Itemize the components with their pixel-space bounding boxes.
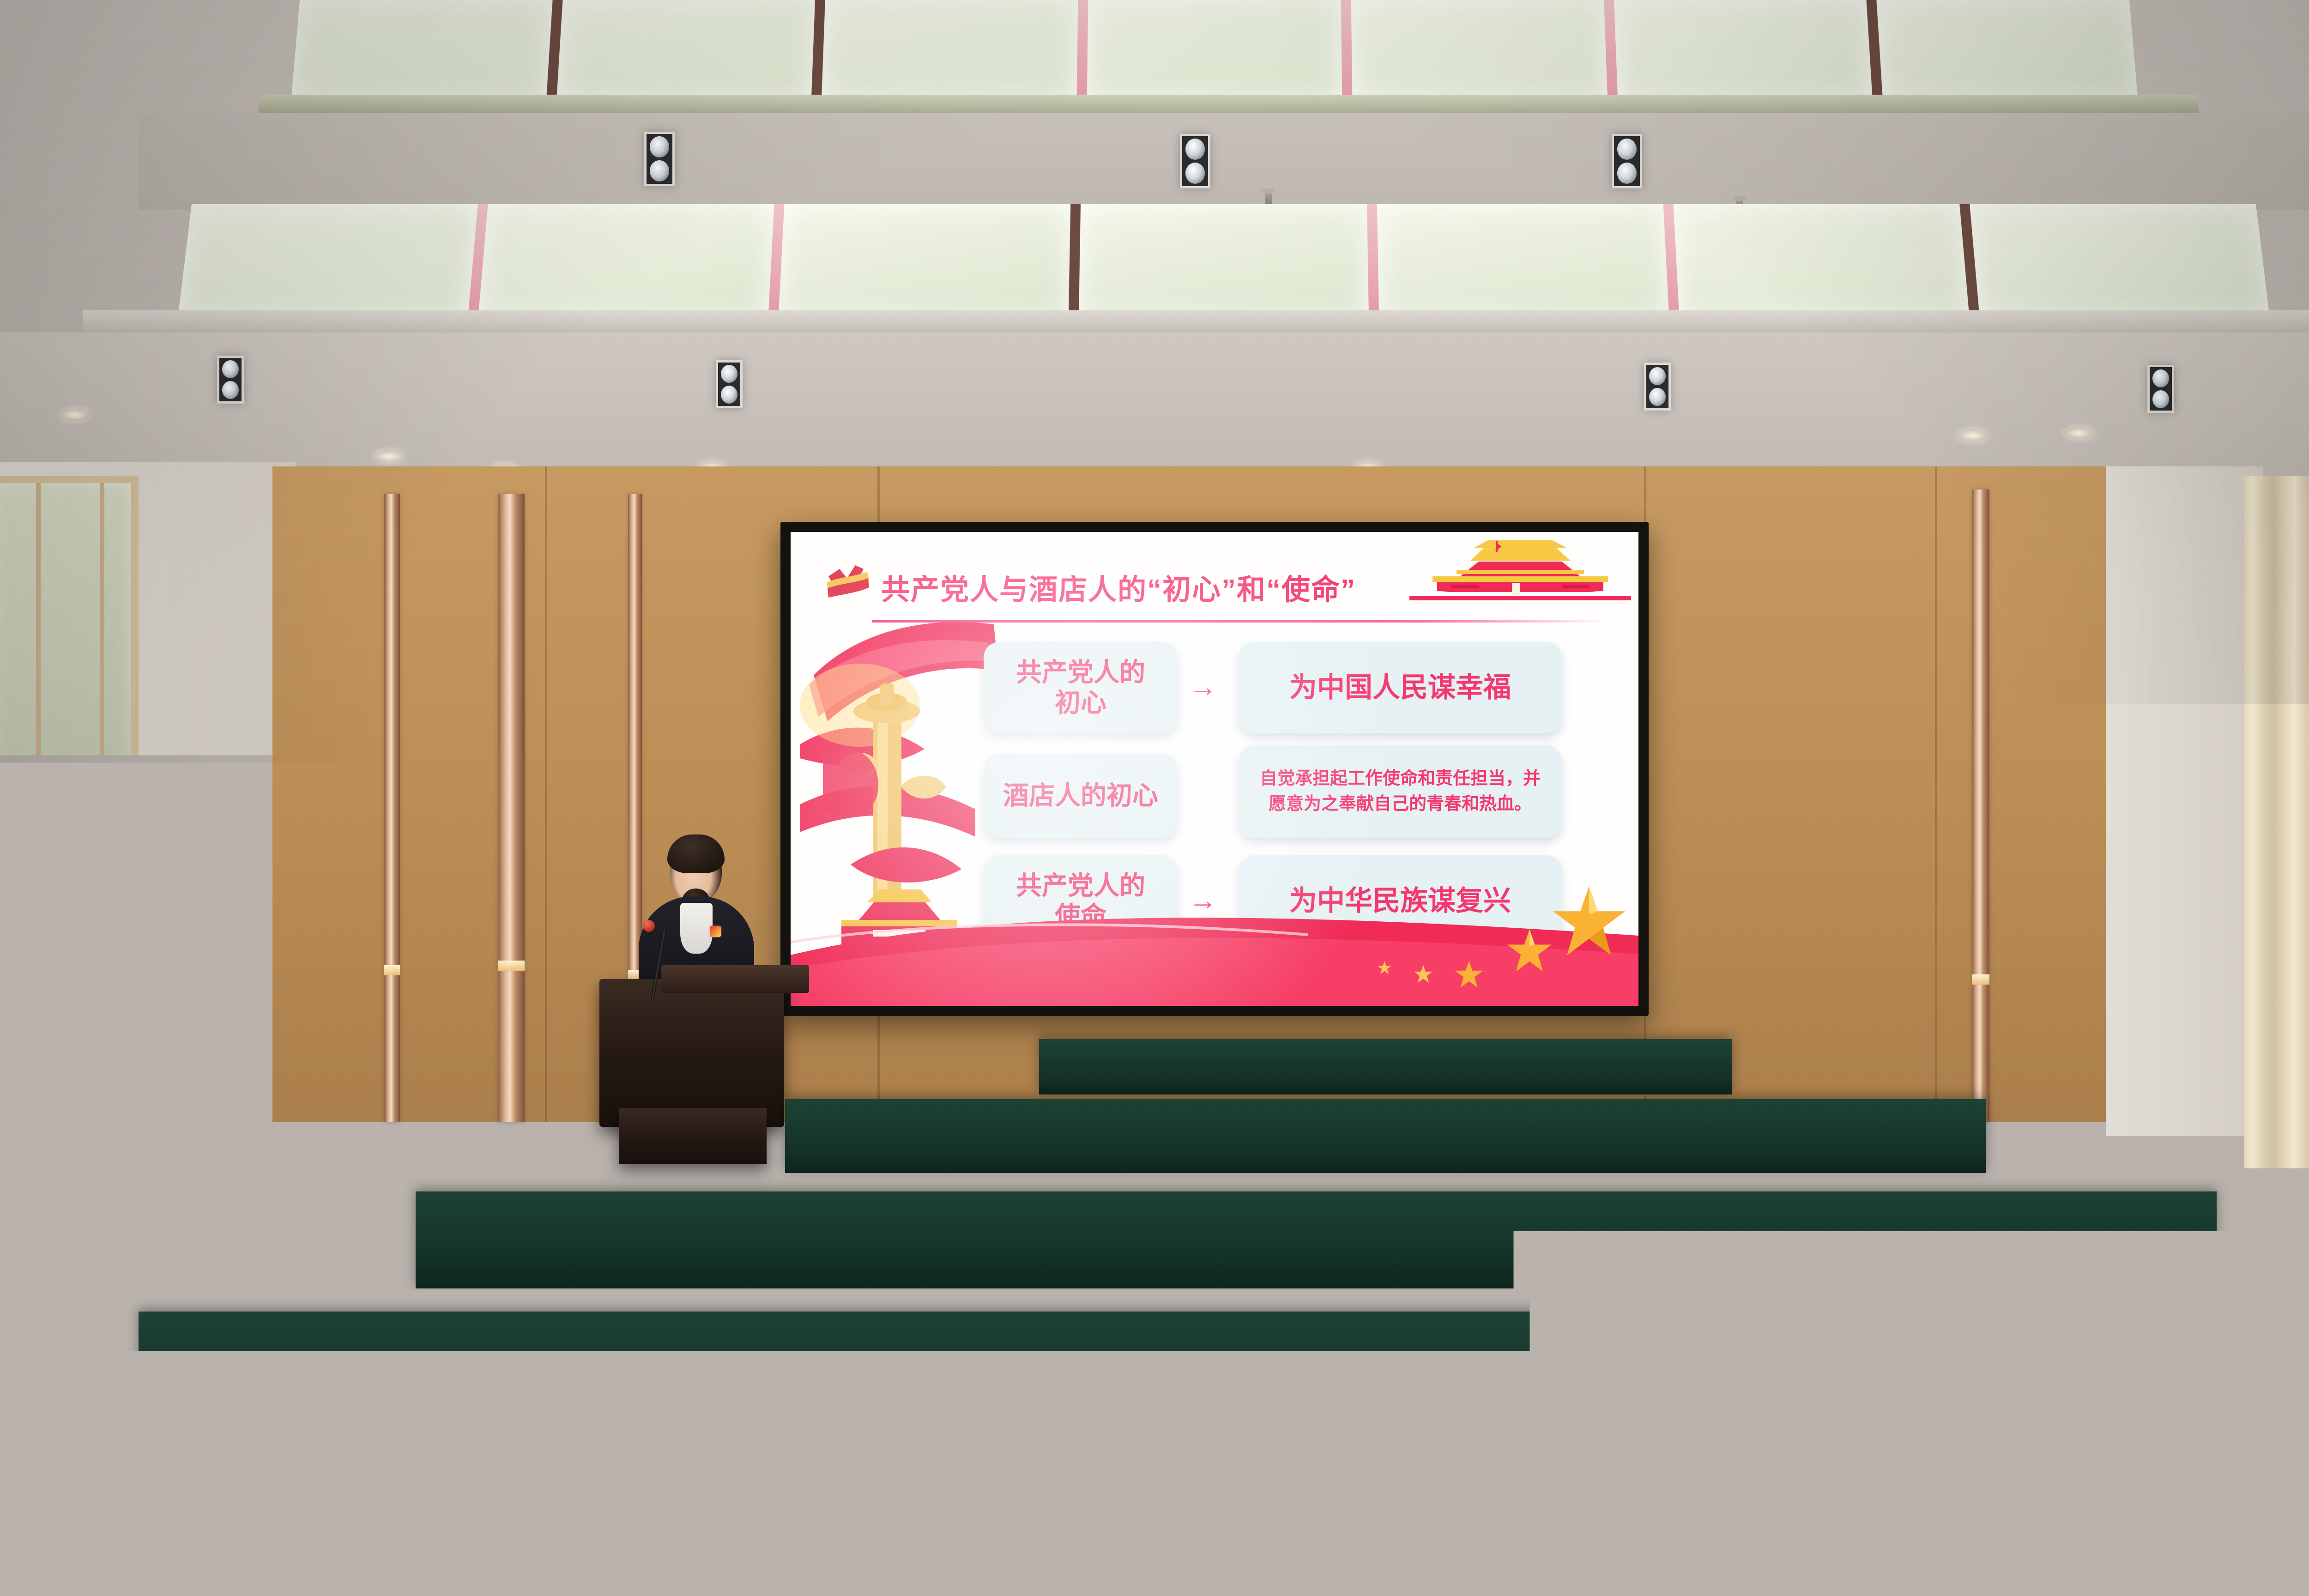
audience-member: [793, 933, 870, 1043]
audience-member: [1643, 1021, 1737, 1157]
audience-head: [1050, 997, 1112, 1067]
audience-member: [1937, 1011, 2035, 1153]
audience-head: [403, 1002, 467, 1074]
audience-head: [806, 933, 858, 991]
audience-head: [380, 928, 434, 989]
audience-member: [1035, 997, 1126, 1130]
audience-head: [1441, 1007, 1506, 1080]
audience-head: [112, 1108, 194, 1200]
audience-head: [1543, 1122, 1626, 1214]
face-mask: [784, 1143, 842, 1172]
chair-ruche: [940, 1479, 974, 1596]
audience-member: [1275, 1099, 1394, 1270]
audience-head: [545, 1030, 610, 1103]
chair-ruche: [1206, 1479, 1239, 1596]
audience-head: [1386, 933, 1441, 994]
audience-member: [1819, 1108, 1939, 1281]
audience-head: [1738, 1256, 1848, 1378]
audience-torso: [1698, 1357, 1886, 1528]
face-mask: [2074, 1199, 2138, 1229]
audience-head: [1295, 1099, 1375, 1188]
audience-head: [133, 1441, 285, 1596]
audience: [0, 0, 2309, 1596]
audience-member: [1711, 1256, 1873, 1490]
audience-head: [920, 1011, 984, 1083]
audience-member: [96, 1441, 320, 1596]
chair-ruche: [1865, 1509, 1897, 1596]
audience-head: [1840, 1108, 1921, 1199]
face-mask: [501, 1173, 562, 1201]
audience-head: [231, 933, 287, 996]
audience-head: [985, 924, 1039, 983]
audience-member: [1235, 924, 1315, 1039]
audience-head: [693, 961, 749, 1022]
audience-head: [1659, 1021, 1723, 1092]
audience-head: [1848, 937, 1902, 998]
audience-head: [1012, 1413, 1170, 1589]
audience-head: [1709, 942, 1765, 1004]
audience-head: [1953, 1011, 2019, 1085]
audience-member: [1897, 1445, 2121, 1596]
face-mask: [480, 1341, 563, 1381]
audience-head: [2115, 1275, 2228, 1400]
audience-head: [1248, 924, 1302, 984]
conference-hall-photo: 共产党人与酒店人的“初心”和“使命”: [0, 0, 2309, 1596]
audience-head: [1572, 928, 1625, 988]
audience-head: [1424, 1238, 1534, 1360]
audience-head: [2138, 1025, 2204, 1098]
audience-head: [792, 1228, 900, 1348]
audience-member: [1559, 928, 1638, 1042]
audience-member: [387, 1002, 481, 1139]
face-mask: [1952, 1550, 2066, 1596]
face-mask: [81, 1052, 132, 1076]
audience-member: [973, 1413, 1206, 1596]
audience-member: [680, 961, 761, 1078]
audience-member: [2243, 956, 2309, 1078]
chair-ruche: [320, 1505, 352, 1596]
audience-torso: [2237, 1009, 2309, 1098]
audience-torso: [428, 1366, 616, 1537]
audience-torso: [1384, 1338, 1572, 1510]
audience-head: [911, 1122, 993, 1214]
audience-member: [217, 933, 300, 1053]
chair-ruche: [64, 1505, 96, 1596]
face-mask: [2264, 996, 2308, 1016]
audience-member: [1397, 1238, 1559, 1472]
chair-ruche: [2121, 1509, 2153, 1596]
audience-member: [1425, 1007, 1522, 1146]
audience-member: [766, 1228, 924, 1457]
audience-head: [2023, 937, 2079, 999]
audience-member: [1835, 937, 1915, 1053]
audience-member: [441, 1265, 603, 1499]
audience-torso: [673, 1011, 768, 1097]
water-bottle: [1263, 1376, 1318, 1579]
audience-head: [186, 1247, 296, 1369]
audience-member: [472, 1118, 590, 1288]
